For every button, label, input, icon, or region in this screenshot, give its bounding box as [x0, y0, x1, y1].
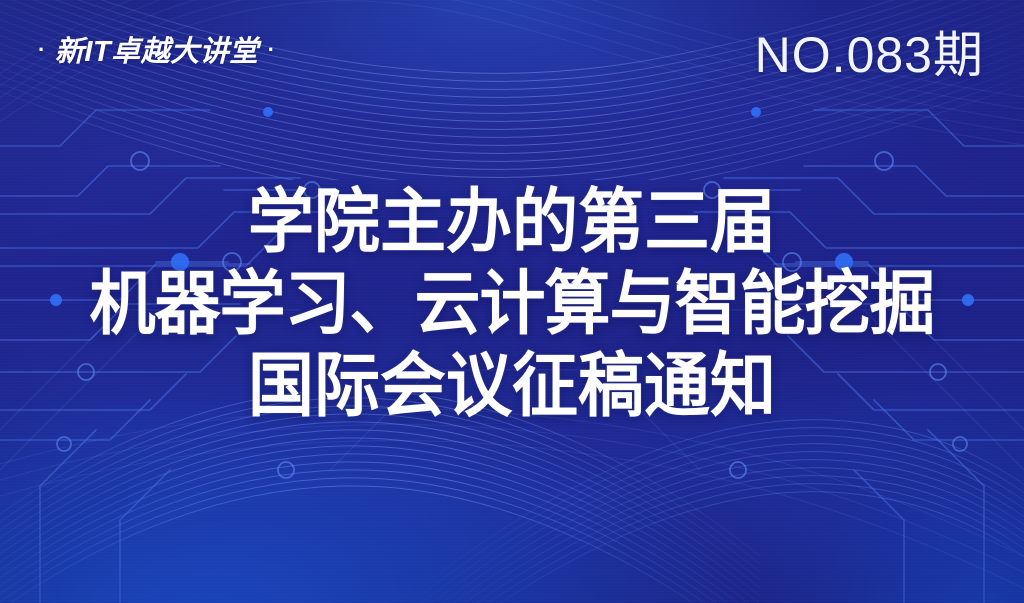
- title-line-2: 机器学习、云计算与智能挖掘: [24, 268, 1000, 338]
- poster-canvas: · 新IT卓越大讲堂 · NO.083期 学院主办的第三届 机器学习、云计算与智…: [0, 0, 1024, 603]
- issue-number-label: NO.083期: [755, 30, 984, 80]
- poster-header: · 新IT卓越大讲堂 · NO.083期: [0, 0, 1024, 118]
- brand-trail-dot: ·: [268, 39, 276, 61]
- main-title-block: 学院主办的第三届 机器学习、云计算与智能挖掘 国际会议征稿通知: [0, 186, 1024, 416]
- brand-logo-text: · 新IT卓越大讲堂 ·: [38, 38, 275, 67]
- brand-label: 新IT卓越大讲堂: [55, 38, 259, 67]
- title-line-3: 国际会议征稿通知: [24, 350, 1000, 420]
- brand-lead-dot: ·: [38, 39, 46, 61]
- title-line-1: 学院主办的第三届: [24, 186, 1000, 256]
